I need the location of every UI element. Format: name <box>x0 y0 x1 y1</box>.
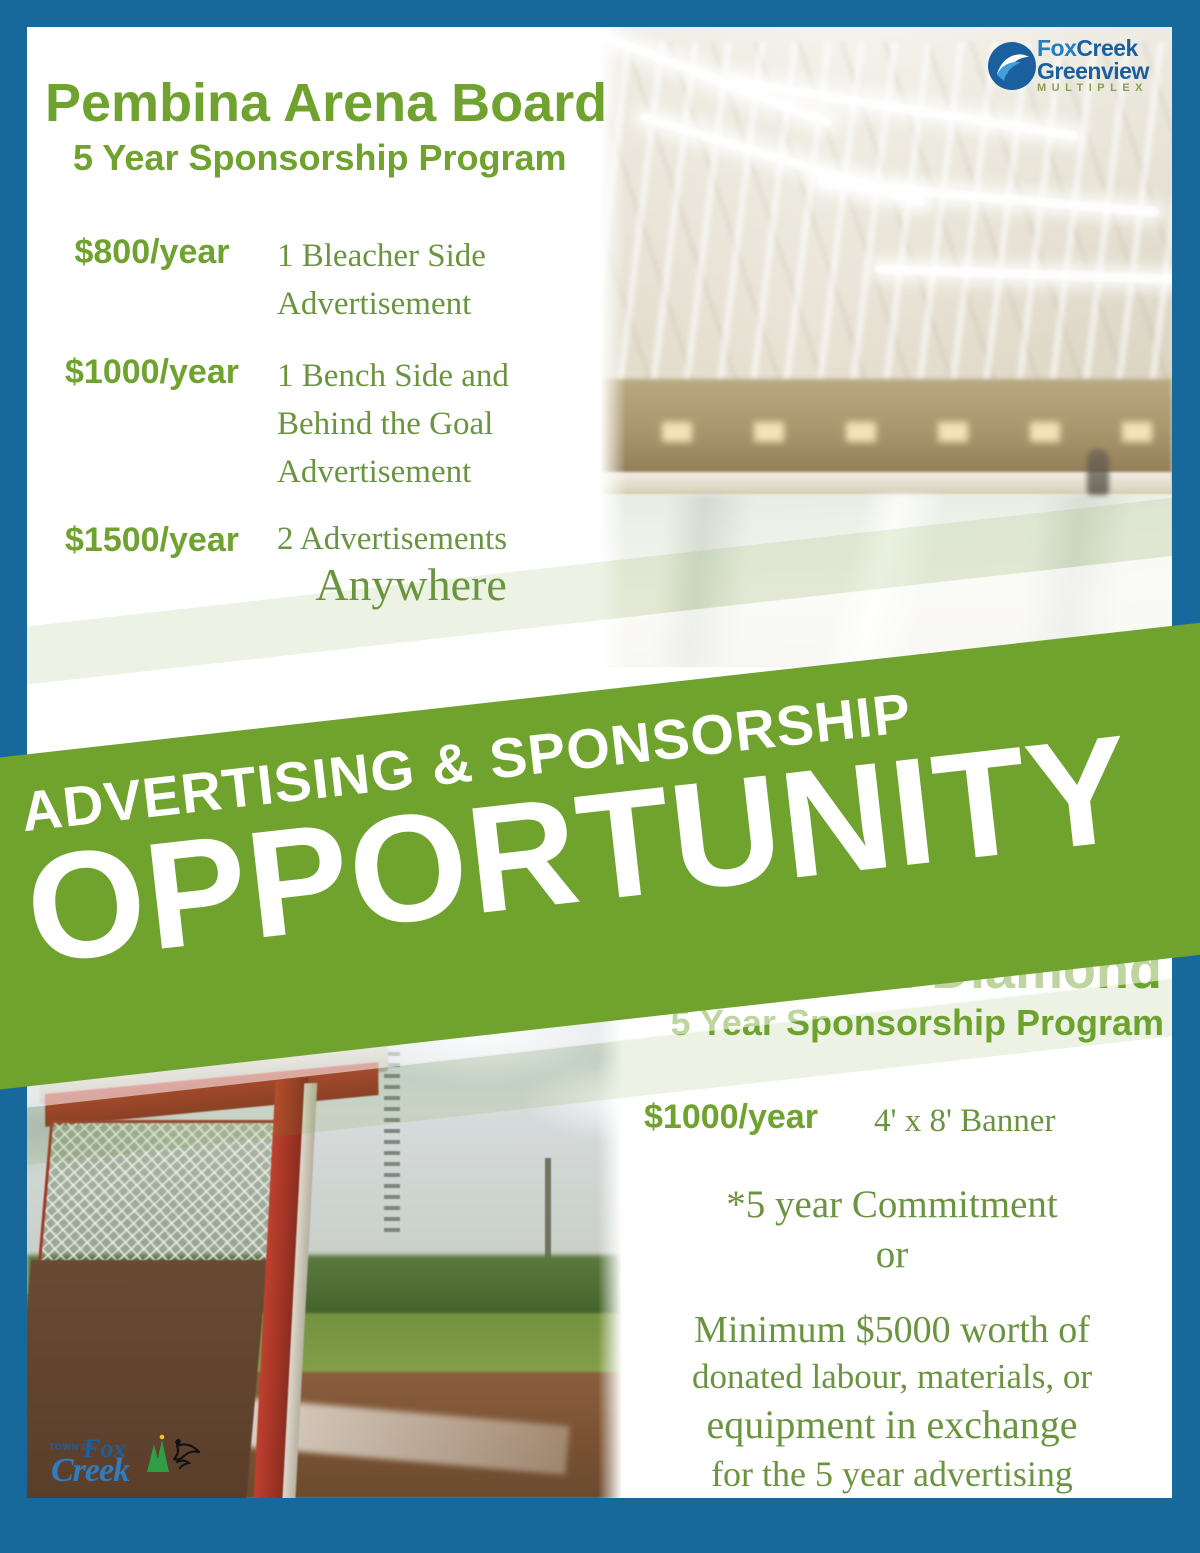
multiplex-logo-tagline: MULTIPLEX <box>1037 83 1149 94</box>
pembina-arena-subtitle: 5 Year Sponsorship Program <box>73 138 607 178</box>
arena-tier-1-price: $800/year <box>27 233 277 272</box>
arena-tier-3-price: $1500/year <box>27 521 277 560</box>
pembina-arena-title: Pembina Arena Board <box>45 75 607 132</box>
arena-tier-2-description: 1 Bench Side and Behind the Goal Adverti… <box>277 353 545 497</box>
baseball-tier-1: $1000/year 4' x 8' Banner <box>644 1098 1172 1146</box>
dugout-mesh-screen <box>38 1120 285 1266</box>
baseball-note-line-7: of the 4' x 8' banner <box>612 1497 1172 1498</box>
ball-utility-pole <box>545 1158 551 1265</box>
town-of-fox-creek-logo: TOWN OF Fox Creek <box>45 1428 205 1490</box>
arena-tier-1: $800/year 1 Bleacher Side Advertisement <box>27 233 607 329</box>
baseball-note-line-5: equipment in exchange <box>612 1399 1172 1450</box>
baseball-note-line-3: Minimum $5000 worth of <box>612 1306 1172 1355</box>
baseball-tier-1-price: $1000/year <box>644 1098 874 1137</box>
pembina-arena-section: Pembina Arena Board 5 Year Sponsorship P… <box>27 27 607 612</box>
baseball-note-line-2: or <box>612 1230 1172 1280</box>
arena-tier-2: $1000/year 1 Bench Side and Behind the G… <box>27 353 607 497</box>
baseball-tier-1-description: 4' x 8' Banner <box>874 1098 1154 1146</box>
baseball-diamond-photo: TOWN OF Fox Creek <box>27 1012 622 1498</box>
multiplex-logo-text: FoxCreek Greenview MULTIPLEX <box>1037 37 1149 94</box>
fox-and-trees-icon <box>133 1432 203 1480</box>
swoosh-icon <box>987 41 1037 91</box>
ice-rink-photo: FoxCreek Greenview MULTIPLEX <box>600 27 1172 667</box>
foxcreek-greenview-multiplex-logo: FoxCreek Greenview MULTIPLEX <box>987 35 1162 97</box>
arena-tier-1-description: 1 Bleacher Side Advertisement <box>277 233 545 329</box>
baseball-note-line-4: donated labour, materials, or <box>612 1355 1172 1400</box>
poster-root: FoxCreek Greenview MULTIPLEX Pembina Are… <box>0 0 1200 1553</box>
arena-tier-3-description-emphasis: Anywhere <box>277 559 545 612</box>
arena-tier-3-description: 2 Advertisements <box>277 521 545 557</box>
baseball-diamond-section: Baseball Diamond 5 Year Sponsorship Prog… <box>612 942 1172 1498</box>
multiplex-logo-word-greenview: Greenview <box>1037 60 1149 83</box>
baseball-note-line-1: *5 year Commitment <box>612 1180 1172 1230</box>
baseball-note-line-6: for the 5 year advertising <box>612 1451 1172 1497</box>
rink-skater <box>1087 449 1109 495</box>
arena-tier-3: $1500/year 2 Advertisements Anywhere <box>27 521 607 612</box>
town-logo-word-creek: Creek <box>51 1452 129 1490</box>
arena-tier-2-price: $1000/year <box>27 353 277 392</box>
baseball-note: *5 year Commitment or Minimum $5000 wort… <box>612 1180 1172 1498</box>
